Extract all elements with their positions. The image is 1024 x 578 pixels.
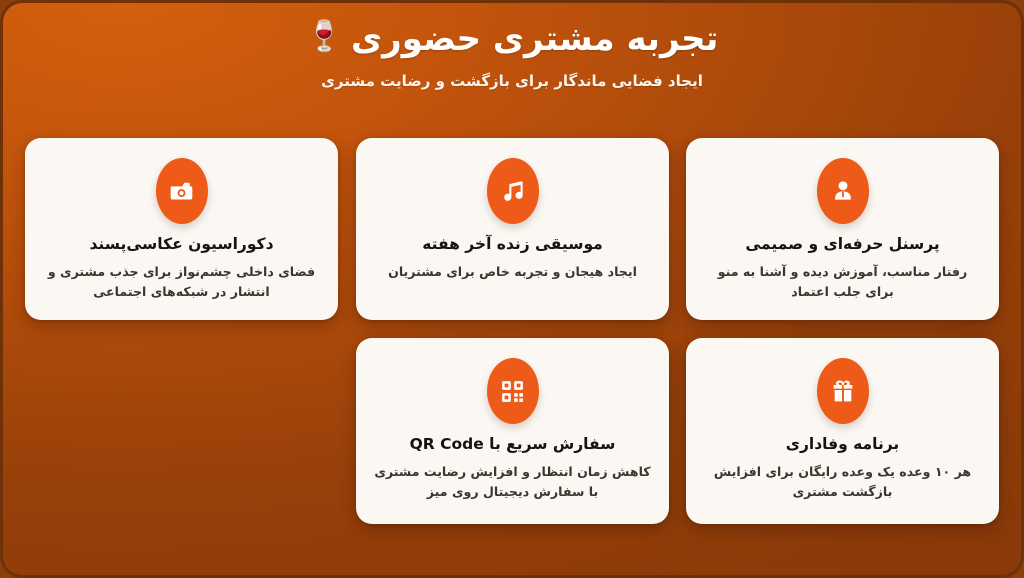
- card-title: دکوراسیون عکاسی‌پسند: [89, 234, 273, 255]
- gift-icon: [830, 378, 856, 404]
- icon-badge: [487, 158, 539, 224]
- person-icon: [830, 178, 856, 204]
- icon-badge: [156, 158, 208, 224]
- icon-badge: [817, 358, 869, 424]
- feature-card-loyalty[interactable]: برنامه وفاداری هر ۱۰ وعده یک وعده رایگان…: [686, 338, 999, 524]
- card-title: برنامه وفاداری: [786, 434, 900, 455]
- card-description: فضای داخلی چشم‌نواز برای جذب مشتری و انت…: [43, 262, 320, 303]
- qr-code-icon: [500, 379, 525, 404]
- feature-card-qr-order[interactable]: سفارش سریع با QR Code کاهش زمان انتظار و…: [356, 338, 669, 524]
- page-title-row: تجربه مشتری حضوری 🍷: [0, 18, 1024, 61]
- music-note-icon: [500, 178, 526, 204]
- feature-card-camera[interactable]: دکوراسیون عکاسی‌پسند فضای داخلی چشم‌نواز…: [25, 138, 338, 320]
- icon-badge: [817, 158, 869, 224]
- header: تجربه مشتری حضوری 🍷 ایجاد فضایی ماندگار …: [0, 18, 1024, 90]
- card-title: پرسنل حرفه‌ای و صمیمی: [745, 234, 939, 255]
- card-description: کاهش زمان انتظار و افزایش رضایت مشتری با…: [374, 462, 651, 503]
- feature-card-music[interactable]: موسیقی زنده آخر هفته ایجاد هیجان و تجربه…: [356, 138, 669, 320]
- card-description: هر ۱۰ وعده یک وعده رایگان برای افزایش با…: [704, 462, 981, 503]
- page-subtitle: ایجاد فضایی ماندگار برای بازگشت و رضایت …: [0, 72, 1024, 90]
- feature-card-person[interactable]: پرسنل حرفه‌ای و صمیمی رفتار مناسب، آموزش…: [686, 138, 999, 320]
- card-title: موسیقی زنده آخر هفته: [422, 234, 603, 255]
- page-title: تجربه مشتری حضوری: [351, 18, 718, 61]
- icon-badge: [487, 358, 539, 424]
- card-description: رفتار مناسب، آموزش دیده و آشنا به منو بر…: [704, 262, 981, 303]
- card-description: ایجاد هیجان و تجربه خاص برای مشتریان: [388, 262, 637, 282]
- slide-root: تجربه مشتری حضوری 🍷 ایجاد فضایی ماندگار …: [0, 0, 1024, 578]
- card-title: سفارش سریع با QR Code: [410, 434, 616, 455]
- wine-glass-emoji: 🍷: [306, 22, 343, 52]
- camera-icon: [168, 178, 195, 205]
